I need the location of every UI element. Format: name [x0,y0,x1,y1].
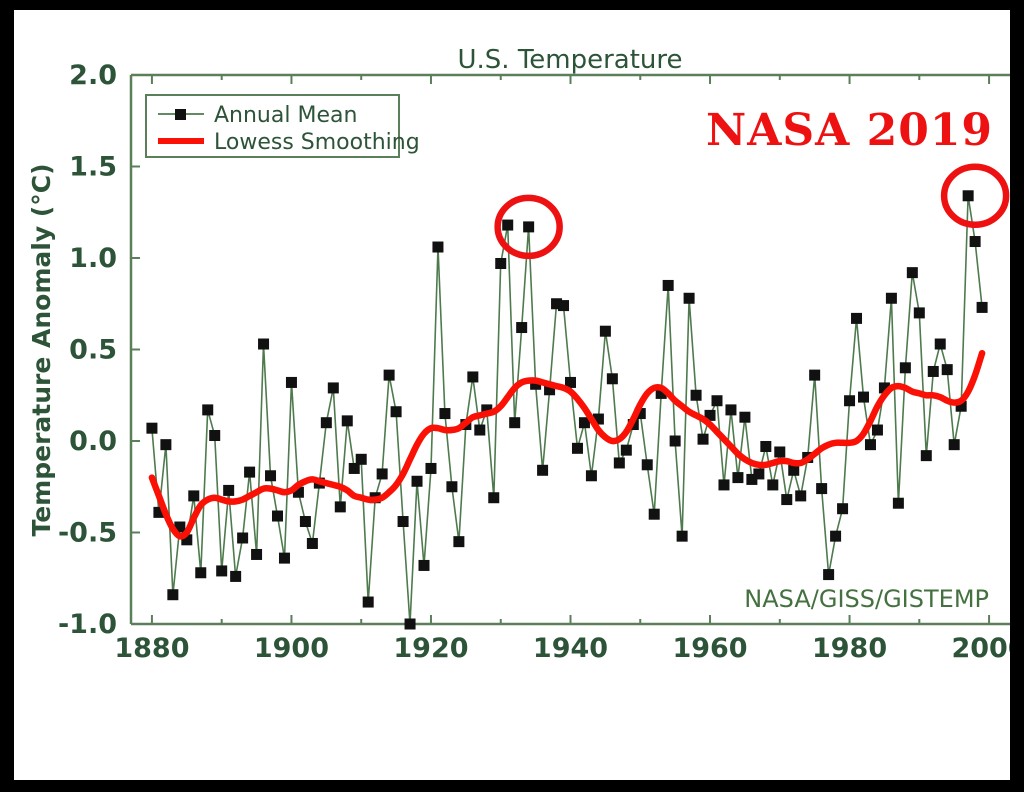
data-point-marker [907,267,918,278]
data-point-marker [188,490,199,501]
data-point-marker [439,408,450,419]
data-point-marker [244,467,255,478]
data-point-marker [195,567,206,578]
chart-title: U.S. Temperature [457,45,682,75]
data-point-marker [872,425,883,436]
data-point-marker [202,404,213,415]
x-tick-label: 1900 [254,633,329,664]
nasa-2019-annotation: NASA 2019 [706,105,993,156]
data-point-marker [223,485,234,496]
data-point-marker [844,395,855,406]
data-point-marker [300,516,311,527]
data-point-marker [963,190,974,201]
data-point-marker [328,382,339,393]
data-point-marker [398,516,409,527]
data-point-marker [600,326,611,337]
data-point-marker [572,443,583,454]
data-point-marker [216,565,227,576]
data-point-marker [272,511,283,522]
data-point-marker [677,531,688,542]
data-point-marker [167,589,178,600]
data-point-marker [391,406,402,417]
data-point-marker [698,434,709,445]
data-point-marker [795,490,806,501]
data-point-marker [900,362,911,373]
data-point-marker [970,236,981,247]
data-point-marker [649,509,660,520]
data-point-marker [767,479,778,490]
data-point-marker [446,481,457,492]
x-tick-label: 1980 [812,633,887,664]
x-tick-label: 1940 [533,633,608,664]
data-point-marker [670,436,681,447]
y-tick-label: 2.0 [69,60,117,91]
data-point-marker [258,339,269,350]
x-tick-label: 1880 [114,633,189,664]
x-tick-label: 1960 [672,633,747,664]
data-point-marker [537,465,548,476]
y-tick-label: 1.5 [69,152,117,183]
data-point-marker [712,395,723,406]
data-point-marker [523,221,534,232]
data-point-marker [419,560,430,571]
data-point-marker [614,457,625,468]
data-point-marker [356,454,367,465]
data-point-marker [509,417,520,428]
data-point-marker [663,280,674,291]
data-point-marker [425,463,436,474]
data-point-marker [921,450,932,461]
data-point-marker [467,371,478,382]
y-tick-label: 0.5 [69,335,117,366]
data-point-marker [342,415,353,426]
data-point-marker [684,293,695,304]
chart-figure: 2.01.51.00.50.0-0.5-1.0 1880190019201940… [14,10,1010,780]
data-point-marker [642,459,653,470]
data-point-marker [453,536,464,547]
data-point-marker [691,390,702,401]
legend-marker-annual-mean-square [175,109,186,120]
data-point-marker [725,404,736,415]
chart-legend: Annual Mean Lowess Smoothing [146,95,420,157]
data-point-marker [237,532,248,543]
y-tick-label: -0.5 [58,518,117,549]
data-point-marker [851,313,862,324]
data-point-marker [286,377,297,388]
data-point-marker [405,619,416,630]
legend-label-annual-mean: Annual Mean [214,103,357,128]
data-point-marker [558,300,569,311]
y-tick-label: 0.0 [69,426,117,457]
data-point-marker [774,446,785,457]
data-point-marker [928,366,939,377]
x-tick-label: 2000 [951,633,1010,664]
data-point-marker [718,479,729,490]
data-point-marker [621,445,632,456]
data-point-marker [307,538,318,549]
data-point-marker [321,417,332,428]
data-point-marker [516,322,527,333]
data-point-marker [823,569,834,580]
data-point-marker [488,492,499,503]
data-point-marker [858,392,869,403]
data-point-marker [377,468,388,479]
temperature-anomaly-chart: 2.01.51.00.50.0-0.5-1.0 1880190019201940… [14,10,1010,780]
data-point-marker [830,531,841,542]
y-tick-label: -1.0 [58,609,117,640]
data-point-marker [760,441,771,452]
data-point-marker [977,302,988,313]
data-point-marker [865,439,876,450]
data-point-marker [816,483,827,494]
data-point-marker [384,370,395,381]
data-point-marker [914,307,925,318]
data-point-marker [753,468,764,479]
y-tick-label: 1.0 [69,243,117,274]
data-point-marker [474,425,485,436]
legend-label-lowess: Lowess Smoothing [214,130,420,155]
data-point-marker [265,470,276,481]
data-point-marker [739,412,750,423]
y-axis-label: Temperature Anomaly (°C) [27,163,56,536]
data-point-marker [335,501,346,512]
data-point-marker [251,549,262,560]
data-point-marker [279,553,290,564]
data-point-marker [432,242,443,253]
data-point-marker [781,494,792,505]
data-point-marker [886,293,897,304]
data-point-marker [160,439,171,450]
data-point-marker [146,423,157,434]
data-point-marker [230,571,241,582]
data-point-marker [935,339,946,350]
data-point-marker [893,498,904,509]
data-point-marker [942,364,953,375]
x-tick-label: 1920 [393,633,468,664]
data-point-marker [502,220,513,231]
source-watermark: NASA/GISS/GISTEMP [744,585,989,613]
data-point-marker [412,476,423,487]
data-point-marker [495,258,506,269]
data-point-marker [949,439,960,450]
data-point-marker [809,370,820,381]
data-point-marker [209,430,220,441]
data-point-marker [837,503,848,514]
data-point-marker [586,470,597,481]
data-point-marker [732,472,743,483]
data-point-marker [363,597,374,608]
data-point-marker [607,373,618,384]
